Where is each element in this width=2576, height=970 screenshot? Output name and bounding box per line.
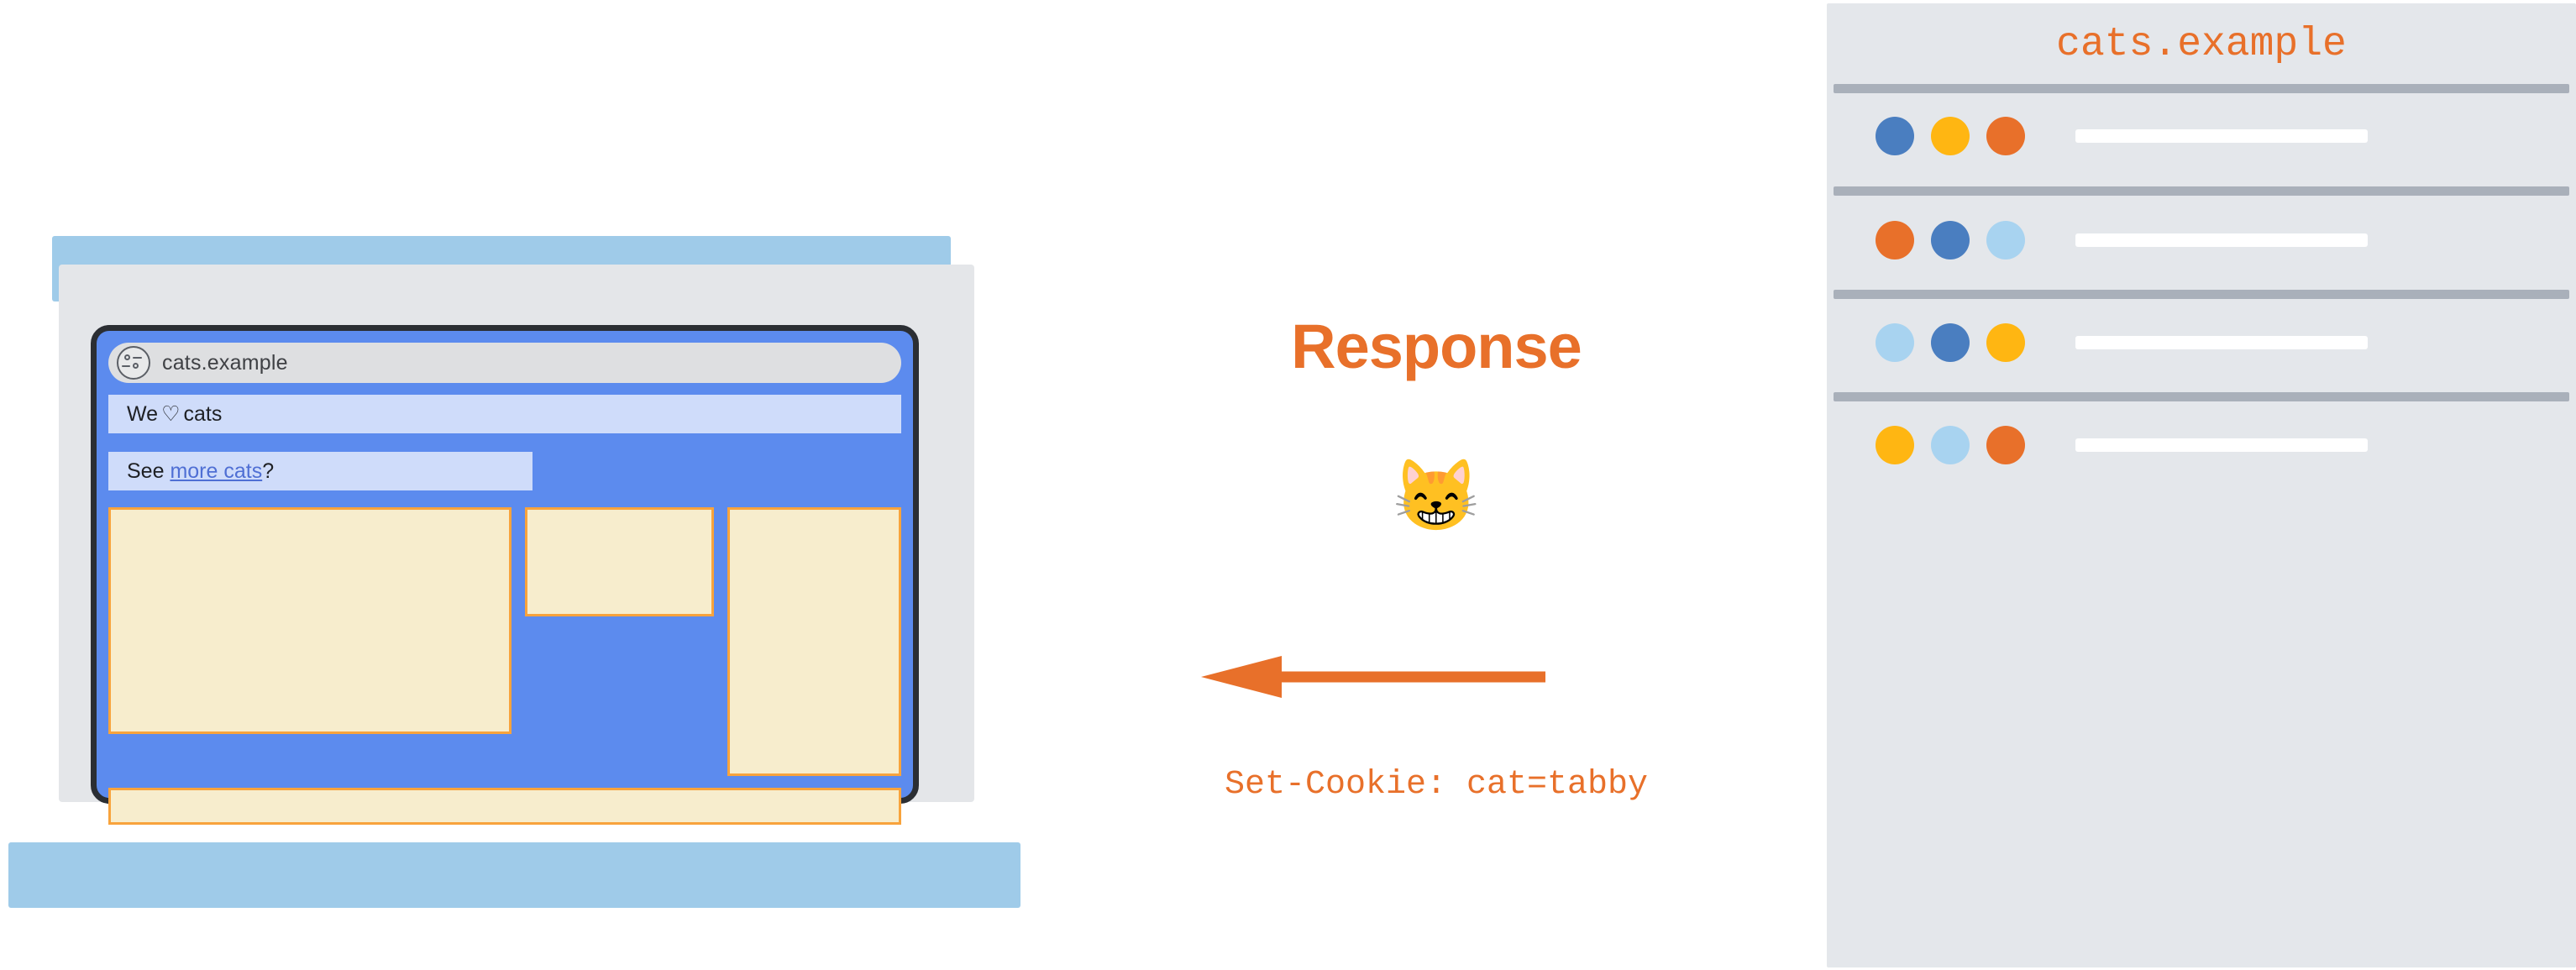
dot-lightblue bbox=[1986, 221, 2025, 260]
row-placeholder-bar bbox=[2075, 129, 2368, 143]
headline-prefix: We bbox=[127, 402, 158, 427]
browser-window: cats.example We ♡ cats See more cats ? bbox=[91, 325, 919, 804]
table-row[interactable] bbox=[1827, 86, 2576, 186]
grinning-cat-icon: 😸 bbox=[1058, 460, 1814, 531]
response-title: Response bbox=[1058, 311, 1814, 382]
table-row[interactable] bbox=[1827, 395, 2576, 495]
laptop-illustration: cats.example We ♡ cats See more cats ? bbox=[0, 214, 1058, 911]
page-content-area bbox=[108, 507, 901, 776]
server-panel: cats.example bbox=[1827, 3, 2576, 967]
link-prefix: See bbox=[127, 459, 164, 484]
response-column: Response 😸 Set-Cookie: cat=tabby bbox=[1058, 0, 1814, 970]
content-card-right bbox=[727, 507, 901, 776]
dot-yellow bbox=[1931, 117, 1970, 155]
dot-orange bbox=[1986, 117, 2025, 155]
set-cookie-header: Set-Cookie: cat=tabby bbox=[1058, 766, 1814, 804]
content-column-right bbox=[727, 507, 901, 776]
content-card-main bbox=[108, 507, 512, 734]
table-row[interactable] bbox=[1827, 292, 2576, 393]
tune-circle-icon[interactable] bbox=[117, 346, 150, 380]
laptop-base bbox=[8, 842, 1020, 908]
table-row[interactable] bbox=[1827, 190, 2576, 291]
url-text: cats.example bbox=[162, 351, 288, 375]
page-link-row: See more cats ? bbox=[108, 452, 533, 490]
dot-blue bbox=[1876, 117, 1914, 155]
dot-yellow bbox=[1986, 323, 2025, 362]
left-arrow-icon bbox=[1201, 651, 1545, 703]
dot-lightblue bbox=[1931, 426, 1970, 464]
dot-orange bbox=[1876, 221, 1914, 260]
url-bar[interactable]: cats.example bbox=[108, 343, 901, 383]
row-dot-group bbox=[1876, 117, 2025, 155]
server-panel-title: cats.example bbox=[1827, 22, 2576, 67]
content-card-mid-spacer bbox=[525, 616, 714, 776]
content-card-mid-top bbox=[525, 507, 714, 616]
dot-blue bbox=[1931, 221, 1970, 260]
dot-orange bbox=[1986, 426, 2025, 464]
row-placeholder-bar bbox=[2075, 336, 2368, 349]
link-suffix: ? bbox=[262, 459, 274, 484]
more-cats-link[interactable]: more cats bbox=[170, 459, 262, 484]
row-dot-group bbox=[1876, 426, 2025, 464]
row-placeholder-bar bbox=[2075, 233, 2368, 247]
dot-lightblue bbox=[1876, 323, 1914, 362]
row-dot-group bbox=[1876, 323, 2025, 362]
content-column-middle bbox=[525, 507, 714, 776]
row-dot-group bbox=[1876, 221, 2025, 260]
page-headline: We ♡ cats bbox=[108, 395, 901, 433]
headline-suffix: cats bbox=[183, 402, 222, 427]
content-card-footer bbox=[108, 788, 901, 825]
row-placeholder-bar bbox=[2075, 438, 2368, 452]
dot-blue bbox=[1931, 323, 1970, 362]
heart-icon: ♡ bbox=[161, 401, 180, 427]
content-column-left bbox=[108, 507, 512, 776]
dot-yellow bbox=[1876, 426, 1914, 464]
